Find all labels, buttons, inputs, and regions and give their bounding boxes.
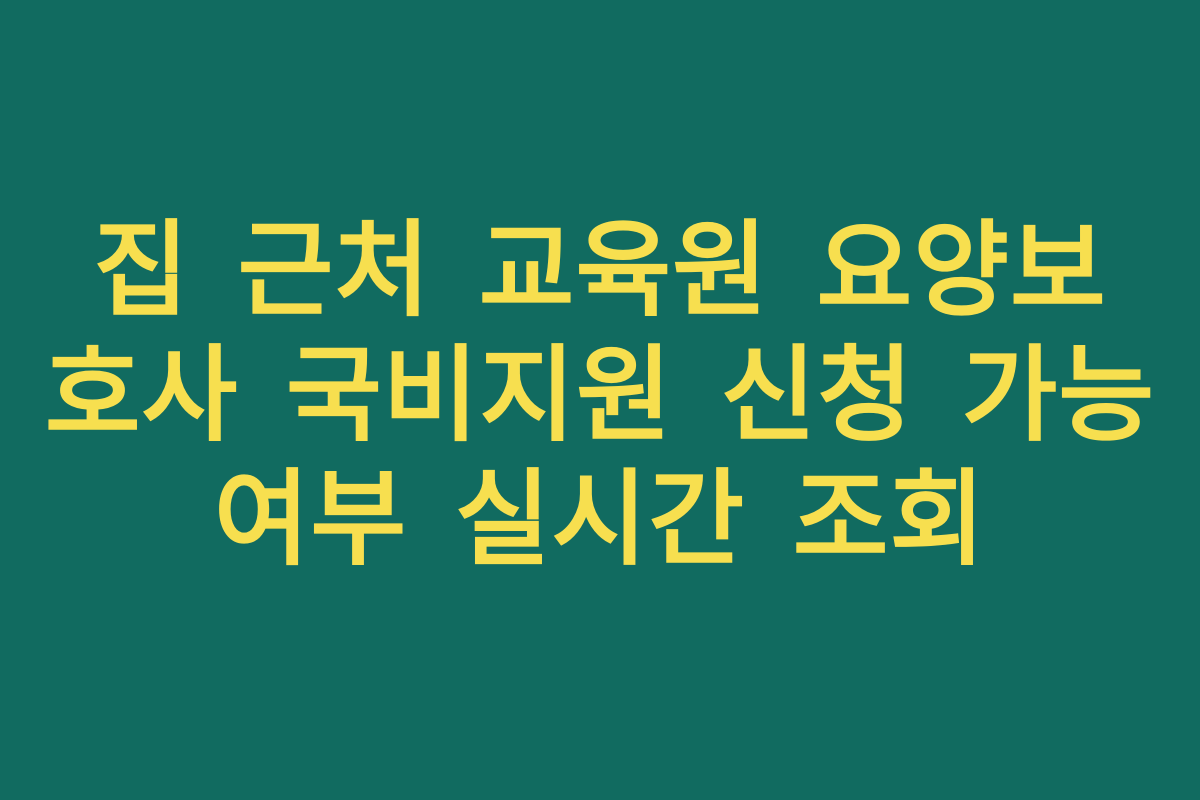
headline-text-block: 집 근처 교육원 요양보 호사 국비지원 신청 가능 여부 실시간 조회 <box>0 208 1200 582</box>
headline-line-1: 집 근처 교육원 요양보 <box>24 208 1176 333</box>
banner-canvas: 집 근처 교육원 요양보 호사 국비지원 신청 가능 여부 실시간 조회 <box>0 0 1200 800</box>
headline-line-3: 여부 실시간 조회 <box>24 457 1176 582</box>
headline-line-2: 호사 국비지원 신청 가능 <box>24 333 1176 458</box>
